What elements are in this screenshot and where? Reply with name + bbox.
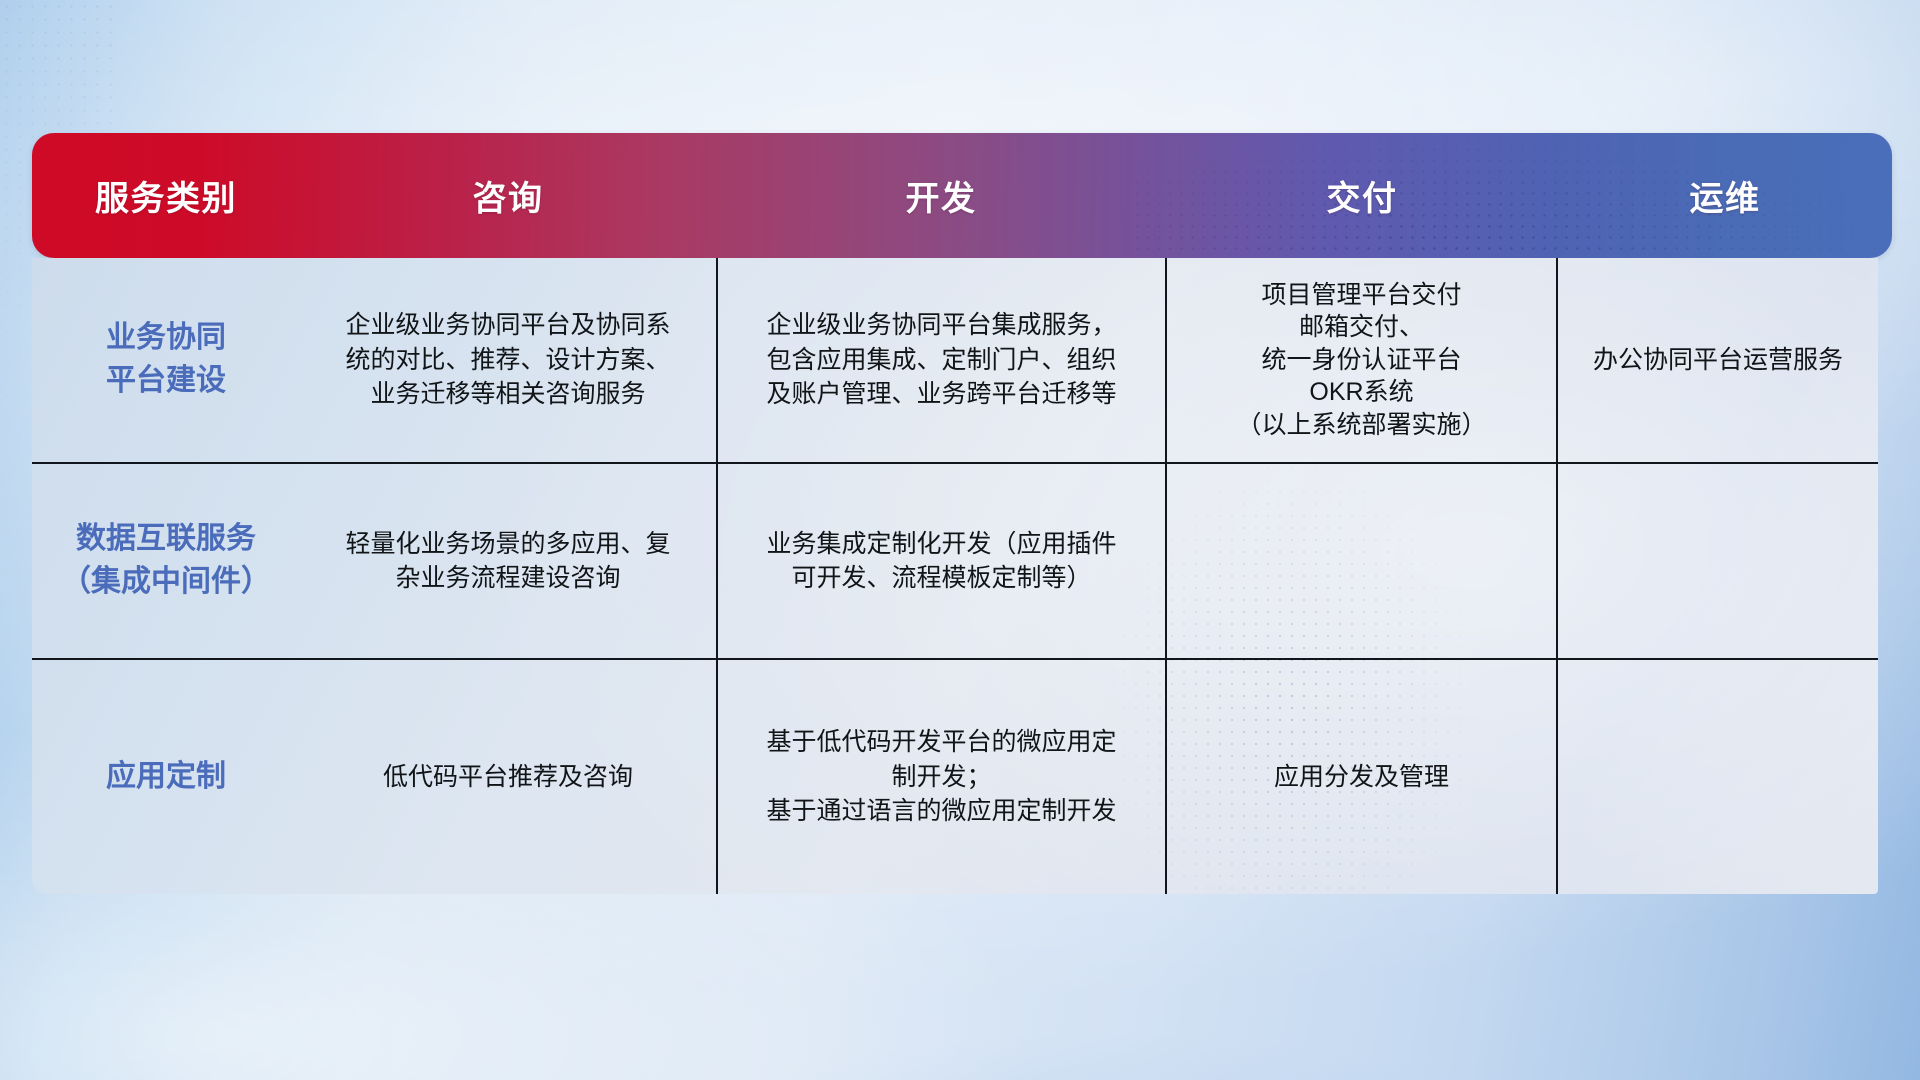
row-group-category-consulting: 业务协同 平台建设 企业级业务协同平台及协同系 统的对比、推荐、设计方案、 业务… — [32, 258, 716, 462]
table-header-bar: 服务类别 咨询 开发 交付 运维 — [32, 133, 1892, 258]
row-group-category-consulting: 应用定制 低代码平台推荐及咨询 — [32, 660, 716, 894]
development-text: 基于低代码开发平台的微应用定 制开发； 基于通过语言的微应用定制开发 — [766, 725, 1116, 829]
cell-consulting: 低代码平台推荐及咨询 — [300, 760, 716, 795]
category-label: 业务协同 平台建设 — [106, 317, 226, 402]
cell-development: 业务集成定制化开发（应用插件 可开发、流程模板定制等） — [716, 464, 1165, 658]
category-label: 应用定制 — [106, 756, 226, 799]
cell-delivery: 项目管理平台交付 邮箱交付、 统一身份认证平台 OKR系统 （以上系统部署实施） — [1165, 258, 1556, 462]
table-row: 数据互联服务 （集成中间件） 轻量化业务场景的多应用、复 杂业务流程建设咨询 业… — [32, 462, 1878, 658]
cell-development: 基于低代码开发平台的微应用定 制开发； 基于通过语言的微应用定制开发 — [716, 660, 1165, 894]
cell-development: 企业级业务协同平台集成服务， 包含应用集成、定制门户、组织 及账户管理、业务跨平… — [716, 258, 1165, 462]
consulting-text: 轻量化业务场景的多应用、复 杂业务流程建设咨询 — [345, 527, 670, 596]
operations-text: 办公协同平台运营服务 — [1593, 343, 1843, 378]
cell-category: 数据互联服务 （集成中间件） — [32, 518, 300, 603]
consulting-text: 低代码平台推荐及咨询 — [383, 760, 633, 795]
cell-category: 业务协同 平台建设 — [32, 317, 300, 402]
development-text: 业务集成定制化开发（应用插件 可开发、流程模板定制等） — [766, 527, 1116, 596]
cell-operations — [1556, 660, 1878, 894]
development-text: 企业级业务协同平台集成服务， 包含应用集成、定制门户、组织 及账户管理、业务跨平… — [766, 308, 1116, 412]
column-header-operations: 运维 — [1558, 171, 1892, 220]
cell-category: 应用定制 — [32, 756, 300, 799]
column-header-category: 服务类别 — [32, 171, 300, 220]
cell-delivery: 应用分发及管理 — [1165, 660, 1556, 894]
service-matrix-table: 服务类别 咨询 开发 交付 运维 业务协同 平台建设 企业级业务协同平台及协同系… — [32, 133, 1892, 894]
table-header-row: 服务类别 咨询 开发 交付 运维 — [32, 133, 1892, 258]
cell-consulting: 轻量化业务场景的多应用、复 杂业务流程建设咨询 — [300, 527, 716, 596]
column-header-development: 开发 — [716, 171, 1166, 220]
delivery-text: 应用分发及管理 — [1274, 760, 1449, 795]
category-label: 数据互联服务 （集成中间件） — [61, 518, 271, 603]
table-body-panel: 业务协同 平台建设 企业级业务协同平台及协同系 统的对比、推荐、设计方案、 业务… — [32, 258, 1878, 894]
table-row: 应用定制 低代码平台推荐及咨询 基于低代码开发平台的微应用定 制开发； 基于通过… — [32, 658, 1878, 894]
table-row: 业务协同 平台建设 企业级业务协同平台及协同系 统的对比、推荐、设计方案、 业务… — [32, 258, 1878, 462]
cell-consulting: 企业级业务协同平台及协同系 统的对比、推荐、设计方案、 业务迁移等相关咨询服务 — [300, 308, 716, 412]
row-group-category-consulting: 数据互联服务 （集成中间件） 轻量化业务场景的多应用、复 杂业务流程建设咨询 — [32, 464, 716, 658]
cell-operations: 办公协同平台运营服务 — [1556, 258, 1878, 462]
column-header-consulting: 咨询 — [300, 171, 716, 220]
consulting-text: 企业级业务协同平台及协同系 统的对比、推荐、设计方案、 业务迁移等相关咨询服务 — [345, 308, 670, 412]
column-header-delivery: 交付 — [1166, 171, 1558, 220]
delivery-text: 项目管理平台交付 邮箱交付、 统一身份认证平台 OKR系统 （以上系统部署实施） — [1236, 279, 1486, 442]
cell-delivery — [1165, 464, 1556, 658]
cell-operations — [1556, 464, 1878, 658]
